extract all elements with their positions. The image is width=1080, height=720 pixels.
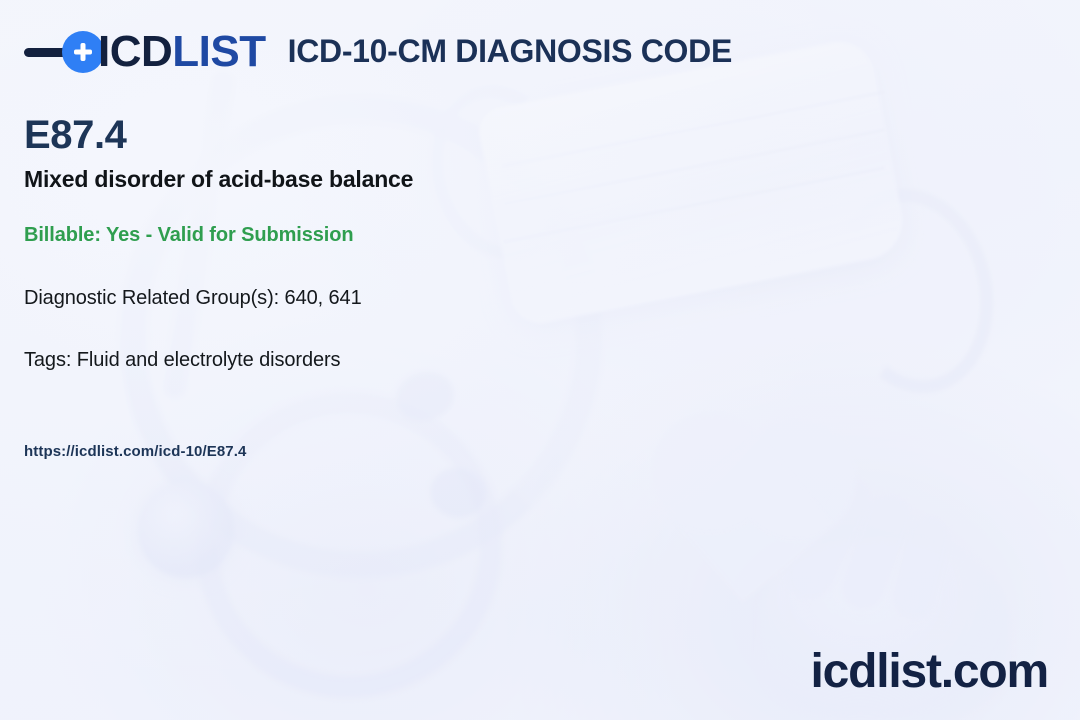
icd-code-card: ICDLIST ICD-10-CM DIAGNOSIS CODE E87.4 M… [0,0,1080,720]
brand-word-icd: ICD [98,27,172,76]
header: ICDLIST ICD-10-CM DIAGNOSIS CODE [24,26,732,78]
diagnostic-related-groups: Diagnostic Related Group(s): 640, 641 [24,286,362,310]
billable-status-badge: Billable: Yes - Valid for Submission [24,223,353,247]
source-url-link[interactable]: https://icdlist.com/icd-10/E87.4 [24,443,246,461]
page-title: ICD-10-CM DIAGNOSIS CODE [288,35,732,69]
brand-wordmark: ICDLIST [98,30,266,74]
icdlist-logo[interactable]: ICDLIST [24,26,266,78]
site-watermark: icdlist.com [810,648,1048,696]
diagnosis-code: E87.4 [24,113,127,157]
diagnosis-description: Mixed disorder of acid-base balance [24,166,413,194]
tags: Tags: Fluid and electrolyte disorders [24,348,340,372]
brand-word-list: LIST [172,27,265,76]
card-content: ICDLIST ICD-10-CM DIAGNOSIS CODE E87.4 M… [0,0,1080,720]
